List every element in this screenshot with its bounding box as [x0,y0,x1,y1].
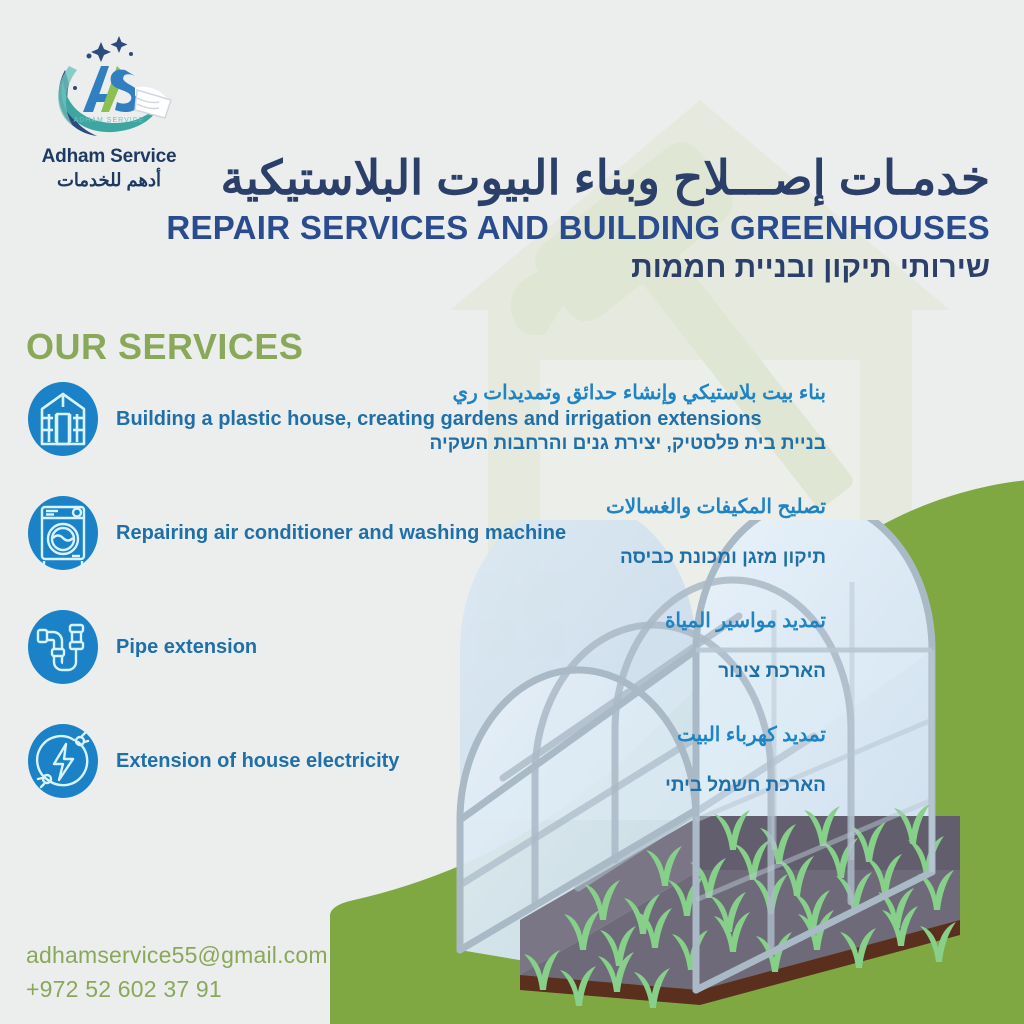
poster-canvas: ADHAM SERVICE Adham Service أدهم للخدمات… [0,0,1024,1024]
service-item-pipe-extension[interactable]: تمديد مواسير المياة Pipe extension הארכת… [26,608,826,686]
service-text-arabic: تصليح المكيفات والغسالات [116,495,826,520]
headline-arabic: خدمـات إصـــلاح وبناء البيوت البلاستيكية [160,152,990,205]
service-item-greenhouse[interactable]: بناء بيت بلاستيكي وإنشاء حدائق وتمديدات … [26,380,826,458]
contact-email[interactable]: adhamservice55@gmail.com [26,939,328,972]
contact-phone[interactable]: +972 52 602 37 91 [26,973,328,1006]
service-text-hebrew: בניית בית פלסטיק, יצירת גנים והרחבות השק… [116,432,826,457]
service-text-english: Repairing air conditioner and washing ma… [116,520,826,546]
as-monogram-sparkle-icon: ADHAM SERVICE [39,26,179,146]
headline-english: REPAIR SERVICES AND BUILDING GREENHOUSES [160,208,990,248]
svg-text:ADHAM SERVICE: ADHAM SERVICE [74,117,145,124]
our-services-heading: OUR SERVICES [26,326,303,368]
service-item-electricity[interactable]: تمديد كهرباء البيت Extension of house el… [26,722,826,800]
service-text-hebrew: תיקון מזגן ומכונת כביסה [116,546,826,571]
washing-machine-icon [26,494,100,572]
service-text-hebrew: הארכת חשמל ביתי [116,774,826,799]
service-text-english: Building a plastic house, creating garde… [116,406,826,432]
pipe-icon [26,608,100,686]
service-text-hebrew: הארכת צינור [116,660,826,685]
service-text-arabic: تمديد مواسير المياة [116,609,826,634]
service-text-arabic: بناء بيت بلاستيكي وإنشاء حدائق وتمديدات … [116,381,826,406]
contact-block: adhamservice55@gmail.com +972 52 602 37 … [26,939,328,1006]
service-text-arabic: تمديد كهرباء البيت [116,723,826,748]
service-text-english: Extension of house electricity [116,748,826,774]
services-list: بناء بيت بلاستيكي وإنشاء حدائق وتمديدات … [26,380,826,836]
service-item-appliance-repair[interactable]: تصليح المكيفات والغسالات Repairing air c… [26,494,826,572]
headline-block: خدمـات إصـــلاح وبناء البيوت البلاستيكية… [160,152,990,287]
headline-hebrew: שירותי תיקון ובניית חממות [160,249,990,287]
service-text-english: Pipe extension [116,634,826,660]
greenhouse-icon [26,380,100,458]
electricity-bolt-icon [26,722,100,800]
